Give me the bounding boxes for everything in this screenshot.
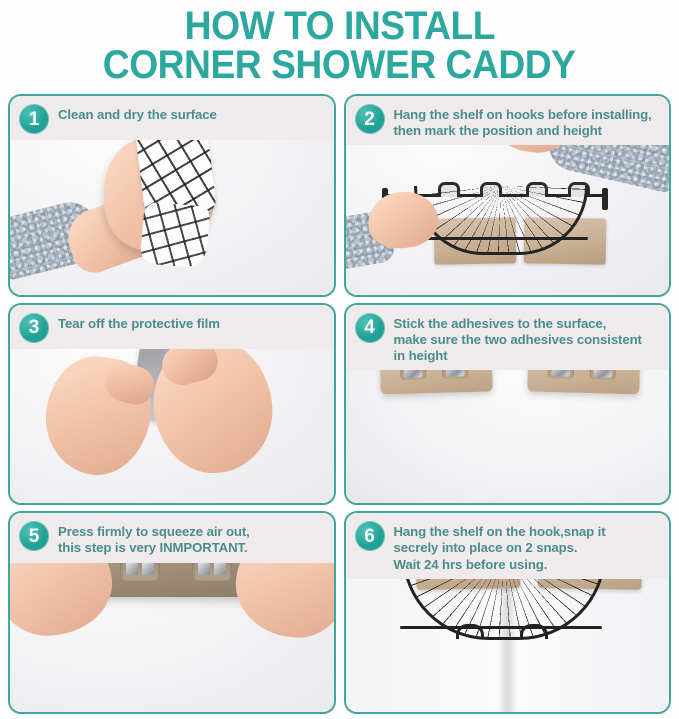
step-4-header: 4 Stick the adhesives to the surface, ma… (346, 305, 670, 370)
step-number-badge-2: 2 (355, 104, 385, 134)
step-1-header: 1 Clean and dry the surface (10, 96, 334, 140)
infographic-sheet: HOW TO INSTALL CORNER SHOWER CADDY 1 Cle… (0, 0, 679, 719)
step-number-badge-1: 1 (19, 104, 49, 134)
shelf-post (602, 188, 608, 210)
step-2-header: 2 Hang the shelf on hooks before install… (346, 96, 670, 145)
title-line-1: HOW TO INSTALL (184, 7, 494, 46)
step-3-header: 3 Tear off the protective film (10, 305, 334, 349)
title-line-2: CORNER SHOWER CADDY (103, 46, 576, 85)
step-panel-5: 5 Press firmly to squeeze air out, this … (8, 511, 336, 714)
steps-grid: 1 Clean and dry the surface (8, 94, 671, 714)
step-2-text: Hang the shelf on hooks before installin… (394, 104, 652, 139)
step-panel-1: 1 Clean and dry the surface (8, 94, 336, 297)
caddy-lip (456, 624, 484, 639)
step-1-text: Clean and dry the surface (58, 104, 217, 123)
step-panel-4: 4 Stick the adhesives to the surface, ma… (344, 303, 672, 506)
step-4-text: Stick the adhesives to the surface, make… (394, 313, 642, 364)
step-panel-2: 2 Hang the shelf on hooks before install… (344, 94, 672, 297)
step-5-header: 5 Press firmly to squeeze air out, this … (10, 513, 334, 562)
step-panel-6: 6 Hang the shelf on the hook,snap it sec… (344, 511, 672, 714)
step-3-text: Tear off the protective film (58, 313, 220, 332)
step-5-text: Press firmly to squeeze air out, this st… (58, 521, 250, 556)
checkered-cloth-tail (139, 201, 210, 269)
caddy-bottom-ring (400, 626, 602, 629)
caddy-lip (520, 624, 548, 639)
step-number-badge-3: 3 (19, 313, 49, 343)
step-number-badge-6: 6 (355, 521, 385, 551)
step-number-badge-4: 4 (355, 313, 385, 343)
step-panel-3: 3 Tear off the protective film (8, 303, 336, 506)
step-number-badge-5: 5 (19, 521, 49, 551)
page-title: HOW TO INSTALL CORNER SHOWER CADDY (0, 0, 679, 92)
step-6-text: Hang the shelf on the hook,snap it secre… (394, 521, 606, 572)
step-6-header: 6 Hang the shelf on the hook,snap it sec… (346, 513, 670, 578)
